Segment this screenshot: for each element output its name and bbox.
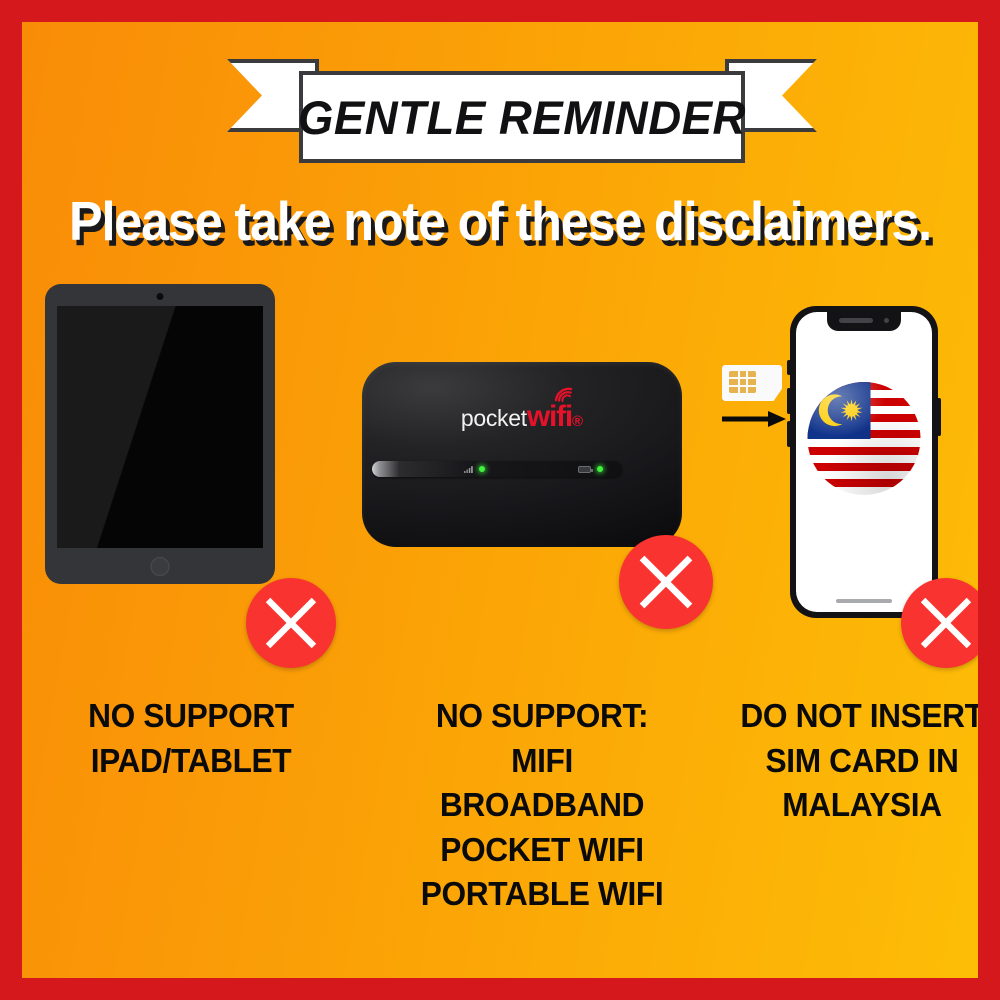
caption-line: SIM CARD IN: [718, 739, 978, 784]
phone-volume-down: [787, 421, 791, 447]
sim-chip: [729, 371, 756, 393]
caption-line: MALAYSIA: [718, 783, 978, 828]
red-x-badge-tablet: [246, 578, 336, 668]
battery-icon: [578, 466, 591, 473]
led-indicator-battery: [597, 466, 603, 472]
poster-inner-canvas: GENTLE REMINDER Please take note of thes…: [22, 22, 978, 978]
close-icon: [901, 578, 978, 668]
tablet-home-button: [151, 557, 170, 576]
router-brand-logo: pocket wifi ®: [362, 400, 682, 434]
caption-tablet: NO SUPPORTIPAD/TABLET: [36, 694, 345, 783]
tablet-screen: [57, 306, 263, 548]
subtitle: Please take note of these disclaimers.: [22, 191, 978, 254]
caption-pocket-wifi: NO SUPPORT:MIFIBROADBANDPOCKET WIFIPORTA…: [369, 694, 715, 917]
led-indicator-signal: [479, 466, 485, 472]
caption-line: PORTABLE WIFI: [369, 872, 715, 917]
sim-chip-line: [729, 385, 756, 387]
close-icon: [246, 578, 336, 668]
caption-sim: DO NOT INSERTSIM CARD INMALAYSIA: [718, 694, 978, 828]
caption-line: MIFI: [369, 739, 715, 784]
banner-plate: GENTLE REMINDER: [299, 71, 745, 163]
caption-line: NO SUPPORT: [36, 694, 345, 739]
logo-word-pocket: pocket: [461, 405, 527, 431]
signal-bars-icon: [464, 466, 473, 473]
caption-line: BROADBAND: [369, 783, 715, 828]
red-x-badge-pocket-wifi: [619, 535, 713, 629]
front-camera-icon: [884, 318, 889, 323]
smartphone-with-malaysia-flag-illustration: [790, 306, 938, 618]
tablet-camera-icon: [157, 293, 164, 300]
caption-line: DO NOT INSERT: [718, 694, 978, 739]
screen-glare: [57, 306, 232, 548]
tablet-device-illustration: [45, 284, 275, 584]
caption-line: NO SUPPORT:: [369, 694, 715, 739]
router-led-strip-indicators: [372, 461, 622, 477]
logo-registered-mark: ®: [572, 413, 583, 430]
flag-gloss-highlight: [808, 382, 921, 495]
sim-card-icon: [722, 365, 792, 433]
close-icon: [619, 535, 713, 629]
logo-word-wifi-text: wifi: [527, 400, 572, 433]
wifi-signal-icon: [554, 387, 574, 402]
caption-line: POCKET WIFI: [369, 828, 715, 873]
home-indicator-bar: [836, 599, 892, 603]
banner: GENTLE REMINDER: [227, 57, 817, 167]
phone-screen: [796, 312, 932, 612]
sim-chip-line: [729, 377, 756, 379]
caption-line: IPAD/TABLET: [36, 739, 345, 784]
phone-volume-up: [787, 388, 791, 414]
page-title: GENTLE REMINDER: [298, 90, 746, 145]
phone-power-button: [937, 398, 941, 436]
logo-word-wifi: wifi: [527, 400, 572, 434]
red-x-badge-sim: [901, 578, 978, 668]
sim-card-body: [722, 365, 782, 401]
router-body: [362, 362, 682, 547]
malaysia-flag: [808, 382, 921, 495]
earpiece-speaker-icon: [839, 318, 873, 323]
phone-mute-switch: [787, 360, 791, 375]
pocket-wifi-router-illustration: pocket wifi ®: [362, 362, 682, 547]
phone-notch: [827, 312, 901, 331]
poster: GENTLE REMINDER Please take note of thes…: [0, 0, 1000, 1000]
arrow-right-icon: [722, 409, 788, 429]
